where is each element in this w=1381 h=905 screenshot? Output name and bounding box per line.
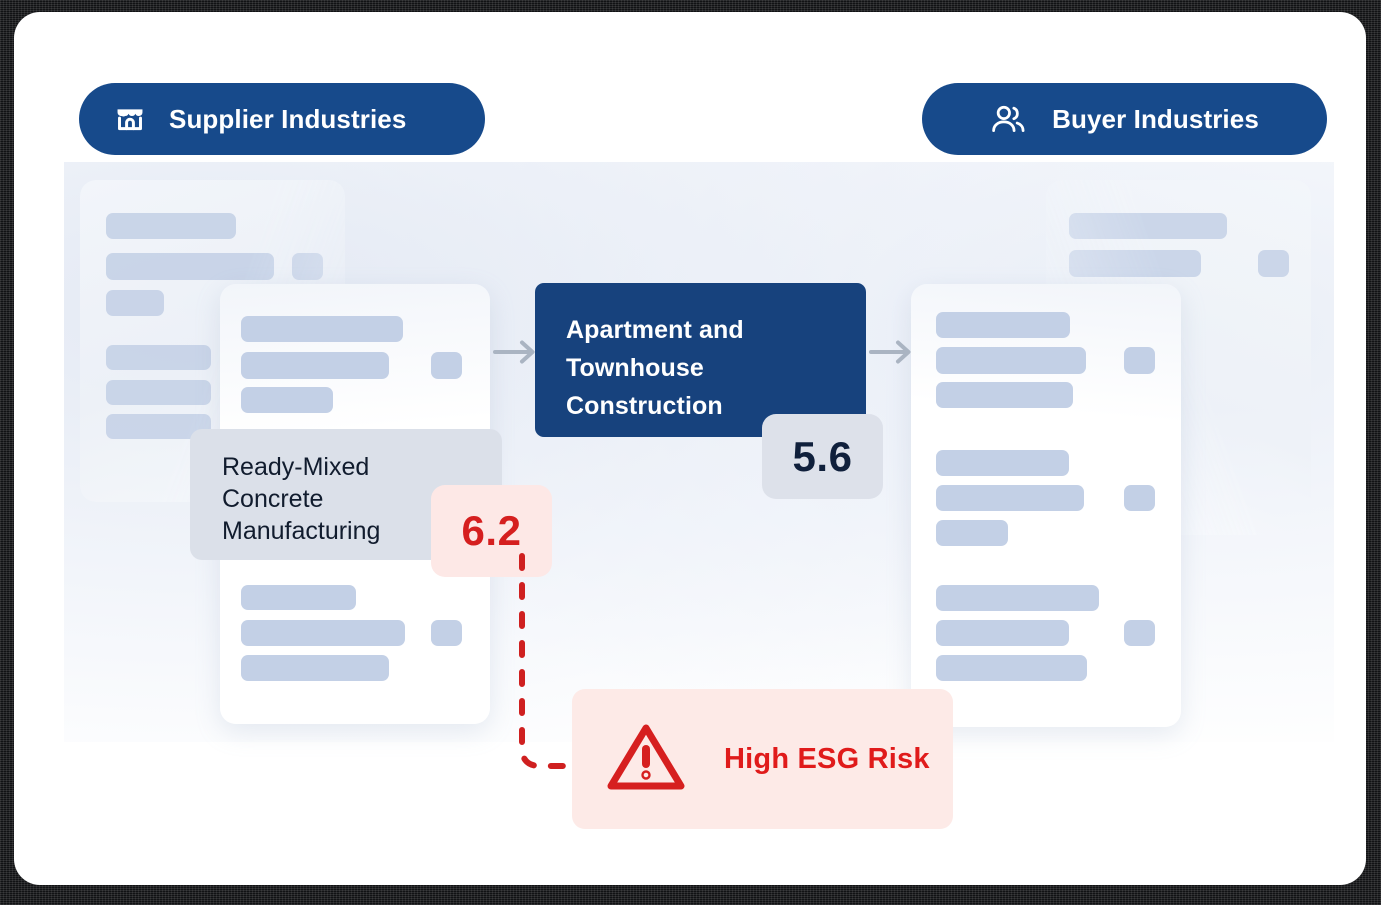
skeleton-card-buyer-front: [911, 284, 1181, 727]
arrow-right-icon-focus-to-buyer: [869, 337, 913, 372]
skeleton-chip: [1124, 347, 1155, 374]
skeleton-bar: [106, 213, 236, 239]
users-icon: [990, 102, 1026, 136]
skeleton-bar: [106, 290, 164, 316]
high-esg-risk-banner[interactable]: High ESG Risk: [572, 689, 953, 829]
supplier-industries-label: Supplier Industries: [169, 104, 406, 135]
skeleton-bar: [241, 585, 356, 610]
skeleton-bar: [936, 620, 1069, 646]
focus-industry-label: Apartment and Townhouse Construction: [566, 311, 866, 425]
skeleton-bar: [936, 312, 1070, 338]
skeleton-bar: [1069, 250, 1201, 277]
buyer-industries-pill[interactable]: Buyer Industries: [922, 83, 1327, 155]
skeleton-bar: [106, 253, 274, 280]
skeleton-chip: [1124, 620, 1155, 646]
arrow-right-icon-supplier-to-focus: [493, 337, 537, 372]
outer-frame: Supplier Industries Buyer Industries: [0, 0, 1381, 905]
skeleton-bar: [106, 380, 211, 405]
skeleton-bar: [936, 655, 1087, 681]
skeleton-bar: [241, 352, 389, 379]
skeleton-bar: [1069, 213, 1227, 239]
skeleton-bar: [936, 485, 1084, 511]
storefront-icon: [113, 102, 147, 136]
skeleton-bar: [241, 655, 389, 681]
skeleton-chip: [431, 352, 462, 379]
skeleton-bar: [936, 585, 1099, 611]
skeleton-bar: [241, 620, 405, 646]
diagram-panel: Supplier Industries Buyer Industries: [14, 12, 1366, 885]
high-esg-risk-label: High ESG Risk: [724, 743, 930, 776]
buyer-industries-label: Buyer Industries: [1052, 104, 1259, 135]
skeleton-chip: [292, 253, 323, 280]
skeleton-chip: [1124, 485, 1155, 511]
supplier-industries-pill[interactable]: Supplier Industries: [79, 83, 485, 155]
skeleton-bar: [241, 316, 403, 342]
skeleton-bar: [936, 450, 1069, 476]
skeleton-bar: [106, 345, 211, 370]
skeleton-chip: [1258, 250, 1289, 277]
warning-triangle-icon: [604, 720, 688, 799]
skeleton-bar: [241, 387, 333, 413]
skeleton-bar: [936, 347, 1086, 374]
skeleton-bar: [936, 520, 1008, 546]
skeleton-chip: [431, 620, 462, 646]
focus-industry-score-badge: 5.6: [762, 414, 883, 499]
skeleton-bar: [936, 382, 1073, 408]
